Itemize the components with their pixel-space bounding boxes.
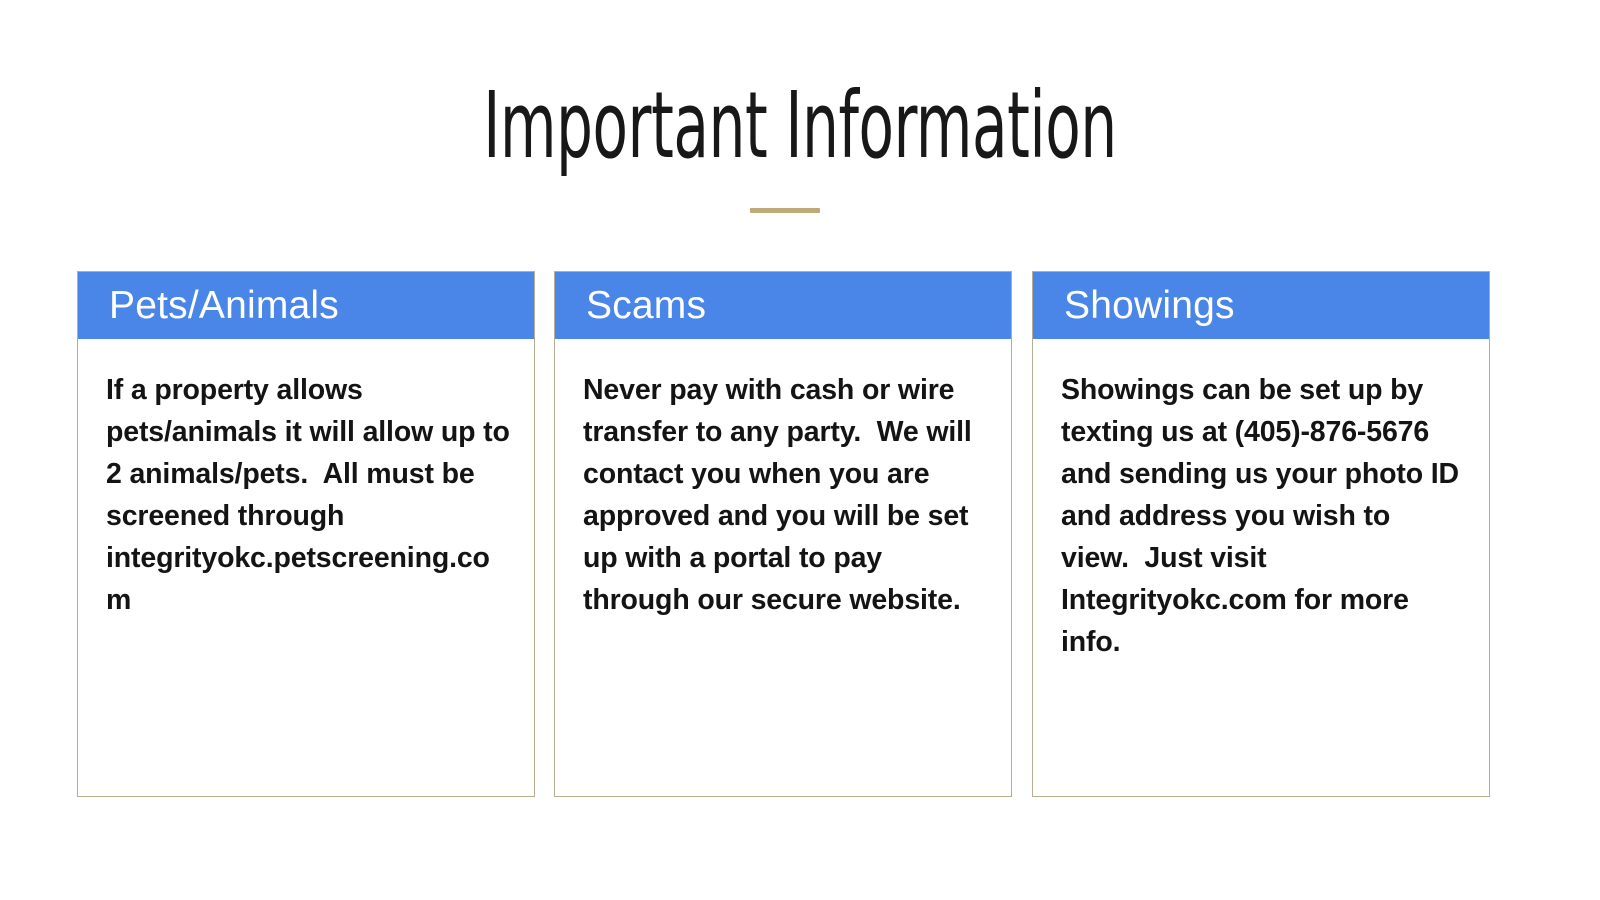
card-header-scams: Scams [555,272,1011,339]
info-card-scams: Scams Never pay with cash or wire transf… [554,271,1012,797]
card-body-text: Showings can be set up by texting us at … [1061,369,1465,663]
card-header-pets-animals: Pets/Animals [78,272,534,339]
slide-canvas: Important Information Pets/Animals If a … [0,0,1600,900]
title-divider [750,208,820,213]
card-header-showings: Showings [1033,272,1489,339]
info-card-showings: Showings Showings can be set up by texti… [1032,271,1490,797]
page-title: Important Information [240,78,1360,174]
card-body-showings: Showings can be set up by texting us at … [1033,339,1489,796]
info-card-group: Pets/Animals If a property allows pets/a… [77,271,1495,799]
card-body-scams: Never pay with cash or wire transfer to … [555,339,1011,796]
card-body-pets-animals: If a property allows pets/animals it wil… [78,339,534,796]
card-header-title: Scams [586,284,706,328]
title-block: Important Information [0,78,1600,174]
card-body-text: Never pay with cash or wire transfer to … [583,369,987,621]
card-body-text: If a property allows pets/animals it wil… [106,369,510,621]
card-header-title: Pets/Animals [109,284,339,328]
info-card-pets-animals: Pets/Animals If a property allows pets/a… [77,271,535,797]
card-header-title: Showings [1064,284,1235,328]
